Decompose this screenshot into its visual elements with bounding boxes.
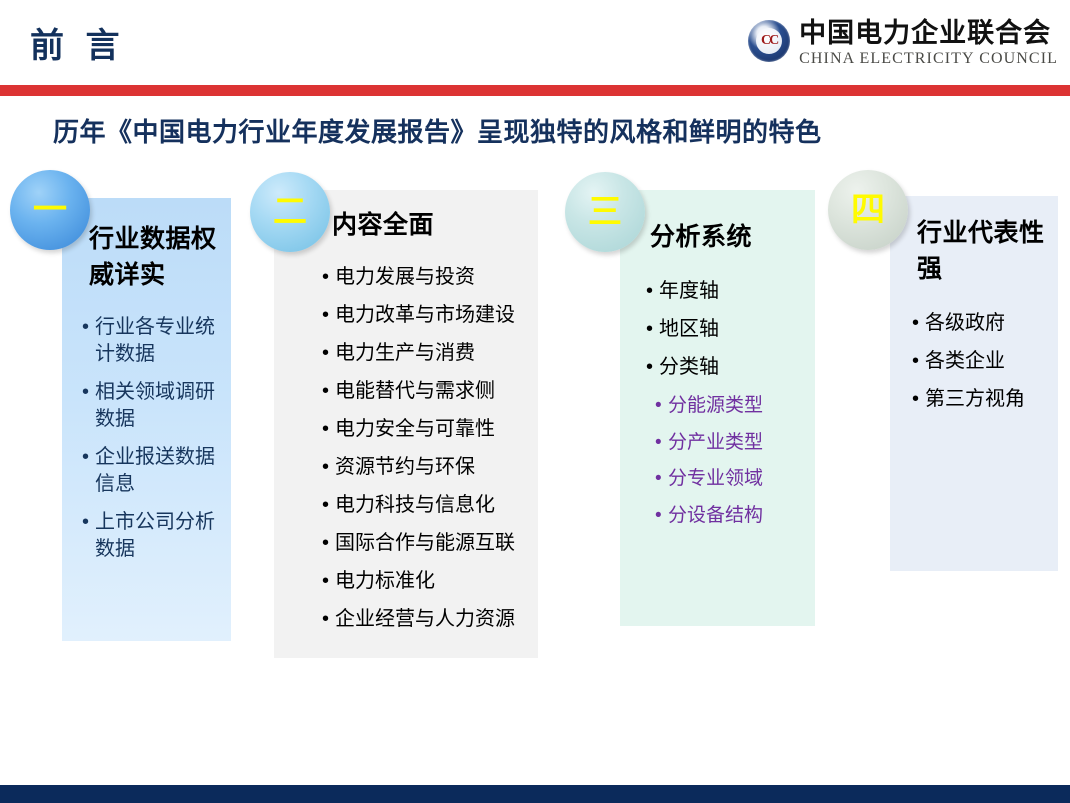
numeral-badge-4: 四 <box>828 170 908 250</box>
column-bullets-3: 年度轴 地区轴 分类轴 <box>646 278 816 392</box>
list-item: 电能替代与需求侧 <box>322 378 537 405</box>
list-item: 电力发展与投资 <box>322 264 537 291</box>
column-heading-3: 分析系统 <box>650 220 820 256</box>
sub-list-item: 分能源类型 <box>646 393 826 419</box>
footer-bar <box>0 785 1070 803</box>
column-heading-1: 行业数据权威详实 <box>89 222 229 293</box>
logo-name-en: CHINA ELECTRICITY COUNCIL <box>799 49 1058 68</box>
logo-text: 中国电力企业联合会 CHINA ELECTRICITY COUNCIL <box>799 18 1058 68</box>
list-item: 企业报送数据信息 <box>82 444 227 498</box>
slide: 前 言 中国电力企业联合会 CHINA ELECTRICITY COUNCIL … <box>0 0 1070 803</box>
column-heading-2: 内容全面 <box>332 208 532 244</box>
numeral-badge-3: 三 <box>565 172 645 252</box>
list-item: 电力科技与信息化 <box>322 492 537 519</box>
council-emblem-icon <box>748 20 790 62</box>
list-item: 电力安全与可靠性 <box>322 416 537 443</box>
sub-list-item: 分设备结构 <box>646 503 826 529</box>
list-item: 分类轴 <box>646 354 816 381</box>
sub-list-item: 分产业类型 <box>646 430 826 456</box>
list-item: 各级政府 <box>912 310 1057 337</box>
page-title: 前 言 <box>30 28 125 65</box>
slide-subtitle: 历年《中国电力行业年度发展报告》呈现独特的风格和鲜明的特色 <box>53 112 822 149</box>
list-item: 地区轴 <box>646 316 816 343</box>
column-sub-bullets-3: 分能源类型 分产业类型 分专业领域 分设备结构 <box>646 393 826 540</box>
numeral-badge-2: 二 <box>250 172 330 252</box>
list-item: 上市公司分析数据 <box>82 509 227 563</box>
column-bullets-4: 各级政府 各类企业 第三方视角 <box>912 310 1057 424</box>
column-bullets-2: 电力发展与投资 电力改革与市场建设 电力生产与消费 电能替代与需求侧 电力安全与… <box>322 264 537 644</box>
list-item: 企业经营与人力资源 <box>322 606 537 633</box>
list-item: 第三方视角 <box>912 386 1057 413</box>
list-item: 电力生产与消费 <box>322 340 537 367</box>
column-heading-4: 行业代表性强 <box>917 216 1047 287</box>
list-item: 相关领域调研数据 <box>82 379 227 433</box>
column-bullets-1: 行业各专业统计数据 相关领域调研数据 企业报送数据信息 上市公司分析数据 <box>82 314 227 574</box>
logo-name-cn: 中国电力企业联合会 <box>799 18 1058 48</box>
list-item: 国际合作与能源互联 <box>322 530 537 557</box>
organization-logo: 中国电力企业联合会 CHINA ELECTRICITY COUNCIL <box>748 18 1058 68</box>
list-item: 电力标准化 <box>322 568 537 595</box>
sub-list-item: 分专业领域 <box>646 466 826 492</box>
list-item: 年度轴 <box>646 278 816 305</box>
numeral-badge-1: 一 <box>10 170 90 250</box>
list-item: 电力改革与市场建设 <box>322 302 537 329</box>
list-item: 各类企业 <box>912 348 1057 375</box>
list-item: 行业各专业统计数据 <box>82 314 227 368</box>
list-item: 资源节约与环保 <box>322 454 537 481</box>
header-red-divider <box>0 85 1070 96</box>
